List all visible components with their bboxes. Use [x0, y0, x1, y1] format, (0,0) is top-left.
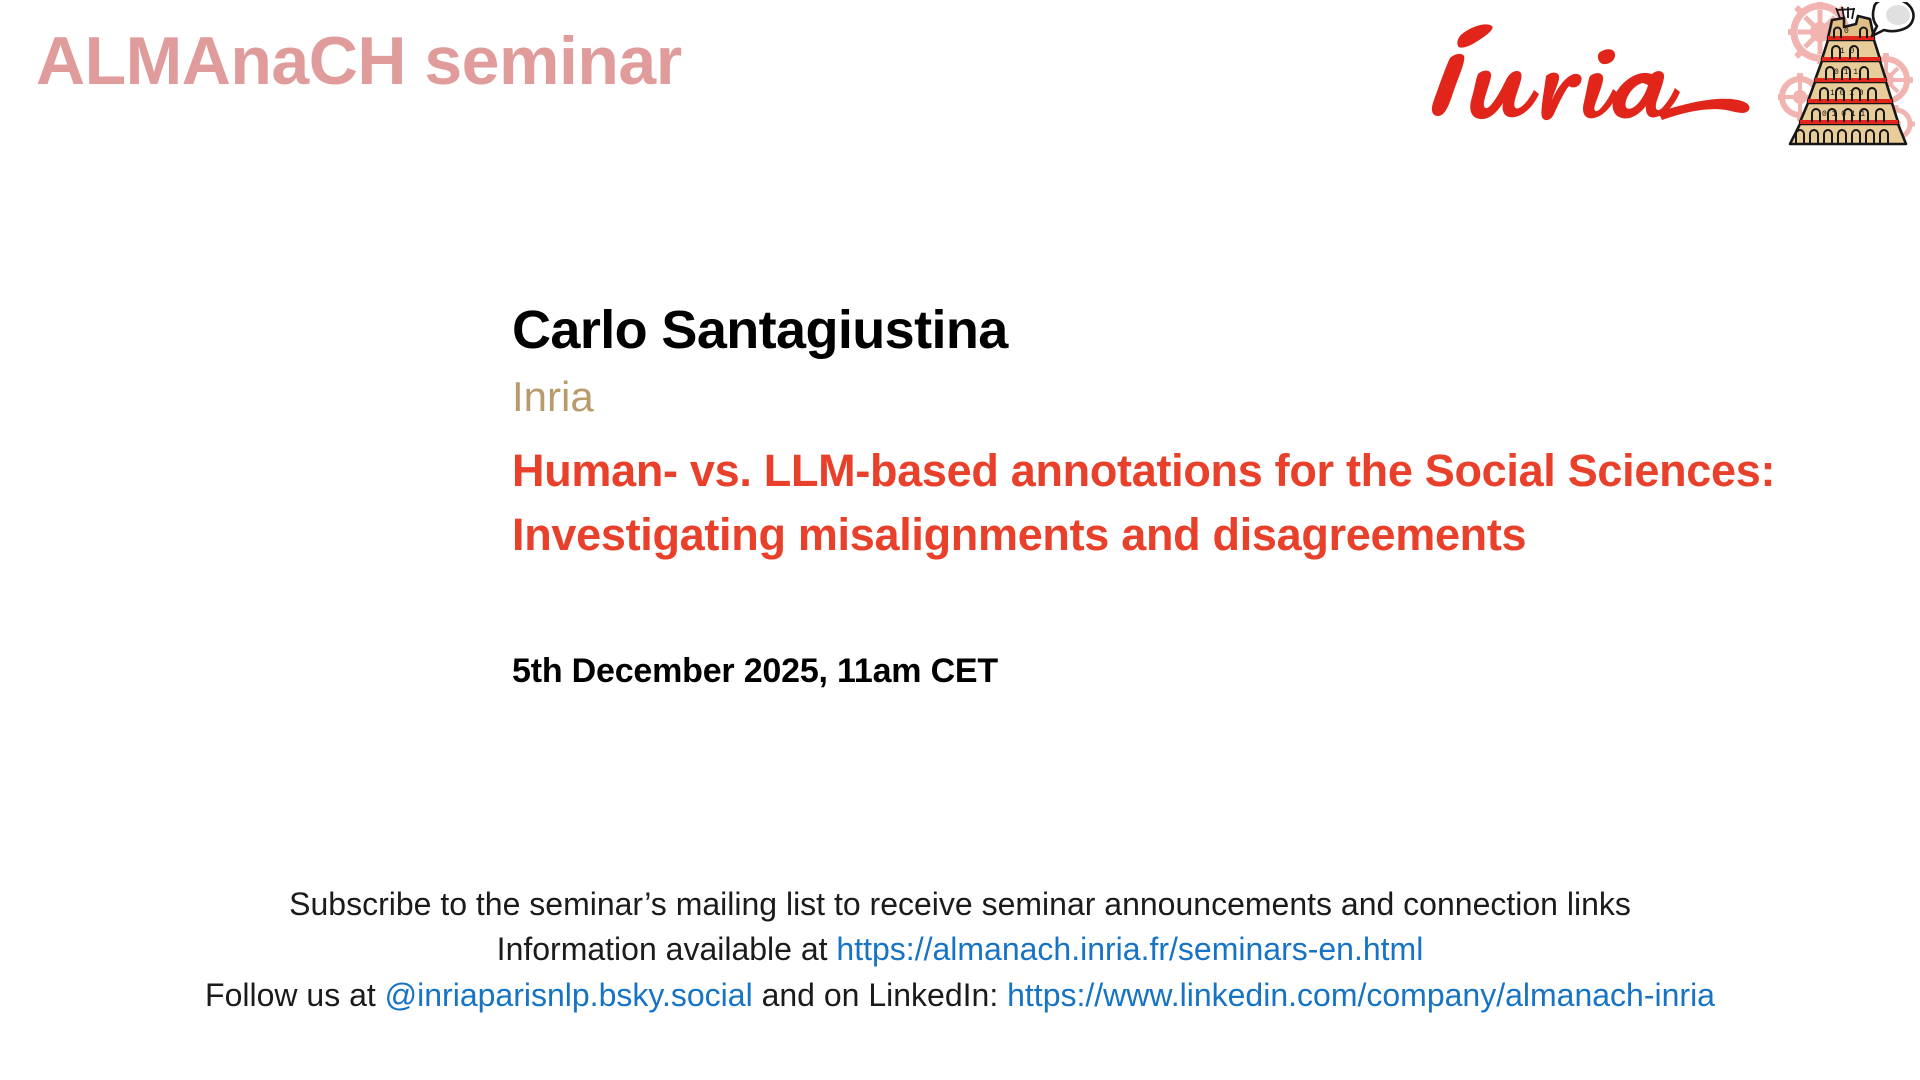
footer-follow-line: Follow us at @inriaparisnlp.bsky.social …	[0, 973, 1920, 1018]
talk-title: Human- vs. LLM-based annotations for the…	[512, 439, 1832, 569]
footer-follow-prefix: Follow us at	[205, 977, 385, 1013]
talk-details: Carlo Santagiustina Inria Human- vs. LLM…	[512, 300, 1852, 691]
speaker-name: Carlo Santagiustina	[512, 300, 1852, 360]
svg-text:0 1 1: 0 1 1	[1834, 68, 1858, 77]
svg-text:1 0: 1 0	[1840, 47, 1855, 56]
inria-logo	[1400, 16, 1760, 136]
slide-header: ALMAnaCH seminar	[0, 0, 1920, 170]
footer-follow-middle: and on LinkedIn:	[753, 977, 1007, 1013]
linkedin-company-link[interactable]: https://www.linkedin.com/company/almanac…	[1007, 977, 1715, 1013]
svg-text:0 1 0 1 1: 0 1 0 1 1	[1822, 110, 1865, 119]
speaker-affiliation: Inria	[512, 374, 1852, 420]
talk-datetime: 5th December 2025, 11am CET	[512, 652, 1852, 691]
svg-text:0: 0	[1844, 27, 1849, 36]
footer-subscribe-line: Subscribe to the seminar’s mailing list …	[0, 882, 1920, 927]
almanach-logo: 0 1 0 1 1 1 0 1 0 0 1 1 1 0 0	[1778, 2, 1920, 154]
slide-footer: Subscribe to the seminar’s mailing list …	[0, 882, 1920, 1018]
footer-information-line: Information available at https://almanac…	[0, 927, 1920, 972]
seminar-series-title: ALMAnaCH seminar	[36, 26, 682, 97]
bluesky-handle-link[interactable]: @inriaparisnlp.bsky.social	[385, 977, 753, 1013]
footer-information-prefix: Information available at	[497, 931, 837, 967]
svg-text:1 0 1 0: 1 0 1 0	[1830, 89, 1864, 98]
seminar-announcement-slide: ALMAnaCH seminar	[0, 0, 1920, 1080]
seminars-page-link[interactable]: https://almanach.inria.fr/seminars-en.ht…	[836, 931, 1423, 967]
